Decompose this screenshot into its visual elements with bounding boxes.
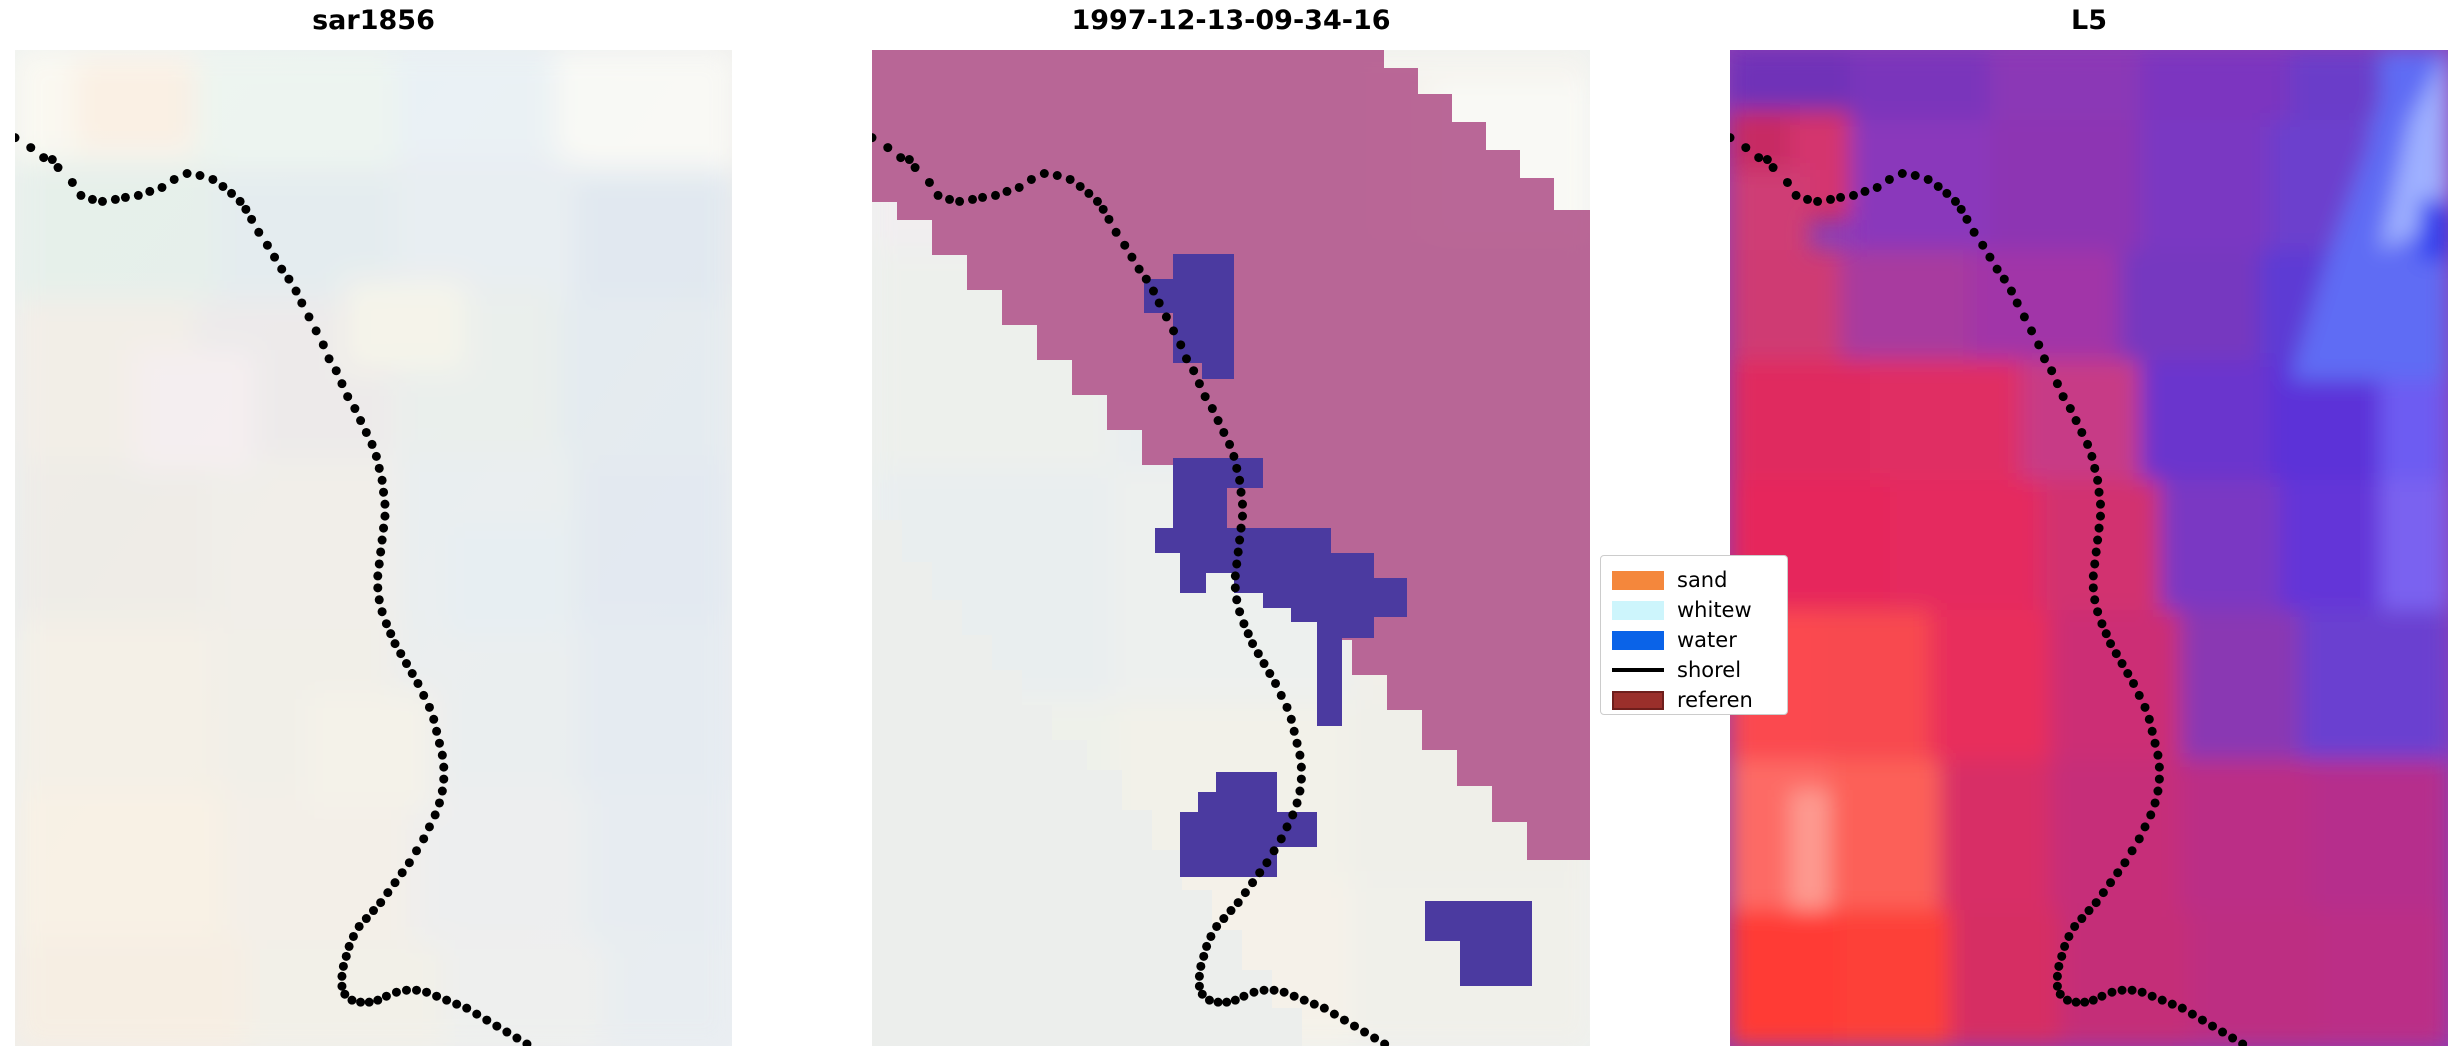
shoreline-dot bbox=[934, 191, 943, 200]
shoreline-dot bbox=[1015, 183, 1024, 192]
shoreline-dot bbox=[1235, 536, 1244, 545]
shoreline-dot bbox=[991, 191, 1000, 200]
shoreline-dot bbox=[422, 988, 431, 997]
shoreline-dot bbox=[1120, 241, 1129, 250]
shoreline-dot bbox=[1214, 998, 1223, 1007]
shoreline-dot bbox=[312, 326, 321, 335]
shoreline-dot bbox=[15, 133, 20, 142]
shoreline-dot bbox=[2089, 583, 2098, 592]
shoreline-dot bbox=[379, 488, 388, 497]
legend-row-water[interactable]: water bbox=[1612, 625, 1777, 655]
shoreline-dot bbox=[1162, 312, 1171, 321]
shoreline-dot bbox=[376, 547, 385, 556]
shoreline-dot bbox=[1237, 488, 1246, 497]
shoreline-dot bbox=[435, 798, 444, 807]
shoreline-dot bbox=[1222, 998, 1231, 1007]
shoreline-dot bbox=[145, 187, 154, 196]
shoreline-dot bbox=[157, 183, 166, 192]
shoreline-dot bbox=[337, 982, 346, 991]
shoreline-dot bbox=[121, 193, 130, 202]
shoreline-dot bbox=[170, 175, 179, 184]
shoreline-dot bbox=[1231, 996, 1240, 1005]
shoreline-dot bbox=[332, 366, 341, 375]
shoreline-dot bbox=[362, 428, 371, 437]
shoreline-dot bbox=[2168, 1000, 2177, 1009]
shoreline-dot bbox=[1942, 189, 1951, 198]
shoreline-dot bbox=[1295, 751, 1304, 760]
shoreline-dot bbox=[391, 639, 400, 648]
shoreline-dot bbox=[1754, 153, 1763, 162]
shoreline-dot bbox=[2093, 536, 2102, 545]
shoreline-dot bbox=[368, 440, 377, 449]
shoreline-dot bbox=[343, 392, 352, 401]
shoreline-dot bbox=[380, 500, 389, 509]
shoreline-dot bbox=[419, 834, 428, 843]
legend-row-whitewater[interactable]: whitew bbox=[1612, 595, 1777, 625]
shoreline-dot bbox=[425, 822, 434, 831]
shoreline-dot bbox=[512, 1034, 521, 1043]
shoreline-dot bbox=[339, 962, 348, 971]
shoreline-dot bbox=[1287, 715, 1296, 724]
shoreline-dot bbox=[2093, 476, 2102, 485]
shoreline-dot bbox=[1234, 898, 1243, 907]
shoreline-dot bbox=[383, 888, 392, 897]
shoreline-dot bbox=[1763, 155, 1772, 164]
shoreline-dot bbox=[1135, 265, 1144, 274]
shoreline-dot bbox=[502, 1028, 511, 1037]
shoreline-dot bbox=[2218, 1028, 2227, 1037]
shoreline-dot bbox=[398, 868, 407, 877]
shoreline-dot bbox=[2151, 739, 2160, 748]
shoreline-dot bbox=[2107, 988, 2116, 997]
shoreline-dot bbox=[263, 241, 272, 250]
shoreline-dot bbox=[2072, 416, 2081, 425]
shoreline-dot bbox=[1260, 986, 1269, 995]
shoreline-dot bbox=[1053, 171, 1062, 180]
shoreline-dot bbox=[355, 922, 364, 931]
shoreline-dot bbox=[2053, 379, 2062, 388]
shoreline-dot bbox=[2188, 1010, 2197, 1019]
shoreline-dot bbox=[227, 189, 236, 198]
shoreline-dot bbox=[378, 607, 387, 616]
shoreline-dot bbox=[2007, 287, 2016, 296]
shoreline-dot bbox=[1231, 583, 1240, 592]
shoreline-dot bbox=[347, 996, 356, 1005]
shoreline-dot bbox=[402, 659, 411, 668]
shoreline-dot bbox=[373, 996, 382, 1005]
shoreline-dot bbox=[1293, 739, 1302, 748]
shoreline-dot bbox=[337, 972, 346, 981]
shoreline-dot bbox=[241, 205, 250, 214]
shoreline-dot bbox=[1985, 253, 1994, 262]
shoreline-dot bbox=[2056, 990, 2065, 999]
shoreline-dot bbox=[2096, 512, 2105, 521]
shoreline-dot bbox=[2129, 679, 2138, 688]
shoreline-dot bbox=[432, 992, 441, 1001]
shoreline-dot bbox=[402, 986, 411, 995]
shoreline-dot bbox=[1330, 1010, 1339, 1019]
shoreline-dot bbox=[1239, 619, 1248, 628]
shoreline-dot bbox=[968, 195, 977, 204]
panel-1997-12-13-09-34-16[interactable] bbox=[872, 50, 1590, 1046]
shoreline-dot bbox=[2106, 878, 2115, 887]
shoreline-dot bbox=[396, 649, 405, 658]
shoreline-dot bbox=[2155, 775, 2164, 784]
shoreline-dot bbox=[432, 727, 441, 736]
shoreline-dot bbox=[2153, 787, 2162, 796]
shoreline-dot bbox=[270, 253, 279, 262]
shoreline-dot bbox=[304, 312, 313, 321]
shoreline-dot bbox=[1225, 440, 1234, 449]
shoreline-dot bbox=[1040, 169, 1049, 178]
legend-label-reference: referen bbox=[1677, 688, 1753, 712]
shoreline-dot bbox=[492, 1022, 501, 1031]
shoreline-dot bbox=[1283, 822, 1292, 831]
shoreline-dot bbox=[1241, 888, 1250, 897]
shoreline-dot bbox=[1924, 175, 1933, 184]
shoreline-dot bbox=[2057, 952, 2066, 961]
shoreline-dot bbox=[2077, 914, 2086, 923]
shoreline-dot bbox=[2153, 751, 2162, 760]
shoreline-dot bbox=[2085, 906, 2094, 915]
shoreline-dot bbox=[1112, 228, 1121, 237]
shoreline-dot bbox=[896, 153, 905, 162]
map-legend[interactable]: sand whitew water shorel referen bbox=[1600, 555, 1788, 715]
shoreline-dot bbox=[1295, 787, 1304, 796]
shoreline-dot bbox=[1238, 512, 1247, 521]
shoreline-dot bbox=[435, 739, 444, 748]
shoreline-dot bbox=[345, 942, 354, 951]
shoreline-dot bbox=[2102, 629, 2111, 638]
shoreline-dot bbox=[1297, 775, 1306, 784]
shoreline-dot bbox=[1234, 547, 1243, 556]
shoreline-dot bbox=[2097, 992, 2106, 1001]
shoreline-dot bbox=[111, 195, 120, 204]
shoreline-dot bbox=[2080, 998, 2089, 1007]
shoreline-dot bbox=[945, 195, 954, 204]
legend-row-shoreline[interactable]: shorel bbox=[1612, 655, 1777, 685]
shoreline-dot bbox=[2135, 834, 2144, 843]
shoreline-dot bbox=[2092, 547, 2101, 556]
shoreline-dot bbox=[2077, 428, 2086, 437]
shoreline-dot bbox=[1260, 659, 1269, 668]
shoreline-dot bbox=[319, 340, 328, 349]
shoreline-dot bbox=[1290, 992, 1299, 1001]
shoreline-dot bbox=[442, 996, 451, 1005]
shoreline-dot bbox=[1219, 914, 1228, 923]
shoreline-dot bbox=[425, 703, 434, 712]
shoreline-dot bbox=[1320, 1004, 1329, 1013]
shoreline-dot bbox=[2158, 996, 2167, 1005]
shoreline-dot bbox=[391, 878, 400, 887]
shoreline-dot bbox=[2118, 659, 2127, 668]
shoreline-dot bbox=[1873, 183, 1882, 192]
shoreline-dot bbox=[277, 265, 286, 274]
shoreline-dot bbox=[1255, 868, 1264, 877]
shoreline-dot bbox=[1262, 858, 1271, 867]
shoreline-dot bbox=[2208, 1022, 2217, 1031]
shoreline-dot bbox=[1803, 195, 1812, 204]
shoreline-dot bbox=[439, 763, 448, 772]
shoreline-dot bbox=[1280, 988, 1289, 997]
shoreline-dot bbox=[1290, 727, 1299, 736]
shoreline-dot bbox=[2145, 715, 2154, 724]
shoreline-dot bbox=[1911, 171, 1920, 180]
shoreline-dot bbox=[1202, 942, 1211, 951]
shoreline-dot bbox=[405, 858, 414, 867]
shoreline-dot bbox=[1340, 1016, 1349, 1025]
shoreline-dot bbox=[2198, 1016, 2207, 1025]
shoreline-dot bbox=[254, 228, 263, 237]
shoreline-dot bbox=[373, 583, 382, 592]
shoreline-dot bbox=[325, 354, 334, 363]
shoreline-dot bbox=[2083, 440, 2092, 449]
shoreline-dot bbox=[2123, 669, 2132, 678]
shoreline-dot bbox=[1195, 972, 1204, 981]
shoreline-dot bbox=[375, 559, 384, 568]
shoreline-dot bbox=[1277, 691, 1286, 700]
shoreline-dot bbox=[2060, 942, 2069, 951]
shoreline-dot bbox=[1238, 500, 1247, 509]
shoreline-dot bbox=[1176, 340, 1185, 349]
shoreline-dot bbox=[2128, 986, 2137, 995]
shoreline-dot bbox=[1978, 241, 1987, 250]
shoreline-dot bbox=[2053, 972, 2062, 981]
shoreline-dot bbox=[1227, 906, 1236, 915]
shoreline-dot bbox=[356, 998, 365, 1007]
shoreline-dot bbox=[1189, 366, 1198, 375]
shoreline-dot bbox=[1860, 187, 1869, 196]
shoreline-dot bbox=[1155, 298, 1164, 307]
shoreline-dot bbox=[1962, 215, 1971, 224]
shoreline-dot bbox=[2089, 996, 2098, 1005]
shoreline-dot bbox=[1836, 193, 1845, 202]
shoreline-dot bbox=[1104, 215, 1113, 224]
shoreline-dot bbox=[1208, 404, 1217, 413]
shoreline-dot bbox=[1741, 143, 1750, 152]
shoreline-dot bbox=[2054, 962, 2063, 971]
shoreline-dot bbox=[1169, 326, 1178, 335]
shoreline-dot bbox=[2087, 452, 2096, 461]
shoreline-dot bbox=[1093, 197, 1102, 206]
shoreline-dot bbox=[2112, 649, 2121, 658]
panel-title-l5: L5 bbox=[1730, 5, 2448, 36]
shoreline-dot bbox=[2027, 326, 2036, 335]
shoreline-dot bbox=[1288, 810, 1297, 819]
shoreline-dot bbox=[2040, 354, 2049, 363]
shoreline-dot bbox=[1277, 834, 1286, 843]
shoreline-dot bbox=[236, 197, 245, 206]
shoreline-dot bbox=[369, 906, 378, 915]
shoreline-dot bbox=[378, 476, 387, 485]
shoreline-dot bbox=[439, 775, 448, 784]
shoreline-dot bbox=[1239, 992, 1248, 1001]
shoreline-dot bbox=[2092, 898, 2101, 907]
shoreline-dot bbox=[1199, 952, 1208, 961]
shoreline-dot bbox=[2066, 404, 2075, 413]
panel-l5[interactable] bbox=[1730, 50, 2448, 1046]
shoreline-dot bbox=[1232, 559, 1241, 568]
shoreline-dot bbox=[429, 715, 438, 724]
shoreline-dot bbox=[472, 1010, 481, 1019]
shoreline-dot bbox=[2013, 298, 2022, 307]
shoreline-dot bbox=[2064, 932, 2073, 941]
shoreline-dot bbox=[1249, 988, 1258, 997]
shoreline-dot bbox=[247, 215, 256, 224]
shoreline-dot bbox=[2128, 846, 2137, 855]
shoreline-dot bbox=[1254, 649, 1263, 658]
shoreline-dot bbox=[2099, 888, 2108, 897]
shoreline-dot bbox=[1214, 416, 1223, 425]
shoreline-dot bbox=[2090, 559, 2099, 568]
sand-swatch bbox=[1612, 571, 1664, 590]
shoreline-dot bbox=[2135, 691, 2144, 700]
shoreline-dot bbox=[413, 679, 422, 688]
shoreline-dot bbox=[2228, 1034, 2237, 1043]
shoreline-dot bbox=[1076, 182, 1085, 191]
shoreline-dot bbox=[2118, 986, 2127, 995]
shoreline-dot bbox=[2106, 639, 2115, 648]
shoreline-dot bbox=[76, 191, 85, 200]
legend-row-reference[interactable]: referen bbox=[1612, 685, 1777, 715]
shoreline-dot bbox=[1370, 1034, 1379, 1043]
shoreline-dot bbox=[1283, 703, 1292, 712]
shoreline-dot bbox=[1127, 253, 1136, 262]
shoreline-dot bbox=[375, 595, 384, 604]
shoreline-dot bbox=[362, 914, 371, 923]
shoreline-dot bbox=[412, 846, 421, 855]
shoreline-dot bbox=[2093, 607, 2102, 616]
shoreline-dot bbox=[522, 1040, 531, 1046]
shoreline-dot bbox=[2095, 524, 2104, 533]
legend-label-whitewater: whitew bbox=[1677, 598, 1752, 622]
shoreline-dot bbox=[1229, 452, 1238, 461]
shoreline-l5 bbox=[1730, 50, 2448, 1046]
shoreline-dot bbox=[1201, 392, 1210, 401]
figure-canvas: sar1856 bbox=[0, 0, 2460, 1062]
shoreline-dot bbox=[925, 178, 934, 187]
shoreline-dot bbox=[1265, 669, 1274, 678]
shoreline-dot bbox=[438, 751, 447, 760]
shoreline-dot bbox=[2138, 988, 2147, 997]
shoreline-dot bbox=[431, 810, 440, 819]
legend-row-sand[interactable]: sand bbox=[1612, 565, 1777, 595]
shoreline-dot bbox=[349, 932, 358, 941]
shoreline-dot bbox=[376, 898, 385, 907]
shoreline-dot bbox=[1970, 228, 1979, 237]
shoreline-dot bbox=[68, 178, 77, 187]
shoreline-dot bbox=[1237, 524, 1246, 533]
shoreline-dot bbox=[48, 155, 57, 164]
shoreline-dot bbox=[392, 988, 401, 997]
shoreline-dot bbox=[1084, 189, 1093, 198]
shoreline-dot bbox=[872, 133, 877, 142]
shoreline-dot bbox=[1027, 175, 1036, 184]
shoreline-dot bbox=[1350, 1022, 1359, 1031]
shoreline-dot bbox=[1993, 265, 2002, 274]
panel-title-sar1856: sar1856 bbox=[15, 5, 732, 36]
shoreline-dot bbox=[2178, 1004, 2187, 1013]
shoreline-dot bbox=[1849, 191, 1858, 200]
shoreline-dot bbox=[1066, 175, 1075, 184]
shoreline-dot bbox=[1232, 464, 1241, 473]
shoreline-dot bbox=[342, 952, 351, 961]
shoreline-dot bbox=[1951, 197, 1960, 206]
shoreline-dot bbox=[1813, 197, 1822, 206]
shoreline-dot bbox=[2155, 763, 2164, 772]
shoreline-dot bbox=[2090, 464, 2099, 473]
panel-title-1997: 1997-12-13-09-34-16 bbox=[872, 5, 1590, 36]
shoreline-dot bbox=[1769, 163, 1778, 172]
shoreline-dot bbox=[1792, 191, 1801, 200]
shoreline-dot bbox=[1293, 798, 1302, 807]
shoreline-dot bbox=[183, 169, 192, 178]
shoreline-dot bbox=[2047, 366, 2056, 375]
shoreline-dot bbox=[1212, 922, 1221, 931]
shoreline-dot bbox=[297, 298, 306, 307]
shoreline-dot bbox=[284, 275, 293, 284]
shoreline-dot bbox=[452, 1000, 461, 1009]
shoreline-dot bbox=[978, 193, 987, 202]
shoreline-dot bbox=[2059, 392, 2068, 401]
shoreline-dot bbox=[218, 182, 227, 191]
shoreline-dot bbox=[340, 990, 349, 999]
shoreline-dot bbox=[382, 992, 391, 1001]
shoreline-dot bbox=[1205, 996, 1214, 1005]
shoreline-dot bbox=[380, 512, 389, 521]
shoreline-swatch bbox=[1612, 668, 1664, 672]
shoreline-dot bbox=[54, 163, 63, 172]
shoreline-dot bbox=[2113, 868, 2122, 877]
shoreline-dot bbox=[88, 195, 97, 204]
shoreline-dot bbox=[462, 1004, 471, 1013]
shoreline-dot bbox=[2034, 340, 2043, 349]
shoreline-dot bbox=[438, 787, 447, 796]
panel-sar1856[interactable] bbox=[15, 50, 732, 1046]
water-swatch bbox=[1612, 631, 1664, 650]
shoreline-dot bbox=[1730, 133, 1735, 142]
shoreline-dot bbox=[373, 571, 382, 580]
shoreline-dot bbox=[2053, 982, 2062, 991]
shoreline-dot bbox=[2148, 727, 2157, 736]
shoreline-dot bbox=[2090, 595, 2099, 604]
whitewater-swatch bbox=[1612, 601, 1664, 620]
shoreline-dot bbox=[2120, 858, 2129, 867]
shoreline-dot bbox=[1271, 679, 1280, 688]
shoreline-dot bbox=[1360, 1028, 1369, 1037]
shoreline-dot bbox=[1231, 571, 1240, 580]
shoreline-dot bbox=[2238, 1040, 2247, 1046]
shoreline-dot bbox=[1206, 932, 1215, 941]
shoreline-dot bbox=[1244, 629, 1253, 638]
shoreline-dot bbox=[1099, 205, 1108, 214]
shoreline-dot bbox=[1142, 275, 1151, 284]
legend-label-shoreline: shorel bbox=[1677, 658, 1741, 682]
shoreline-dot bbox=[134, 191, 143, 200]
shoreline-dot bbox=[386, 629, 395, 638]
shoreline-dot bbox=[1885, 175, 1894, 184]
legend-label-water: water bbox=[1677, 628, 1737, 652]
shoreline-dot bbox=[2072, 998, 2081, 1007]
shoreline-dot bbox=[1195, 379, 1204, 388]
shoreline-dot bbox=[1198, 990, 1207, 999]
shoreline-dot bbox=[2089, 571, 2098, 580]
shoreline-dot bbox=[1196, 962, 1205, 971]
shoreline-dot bbox=[905, 155, 914, 164]
shoreline-dot bbox=[2096, 500, 2105, 509]
shoreline-dot bbox=[1934, 182, 1943, 191]
shoreline-dot bbox=[195, 171, 204, 180]
